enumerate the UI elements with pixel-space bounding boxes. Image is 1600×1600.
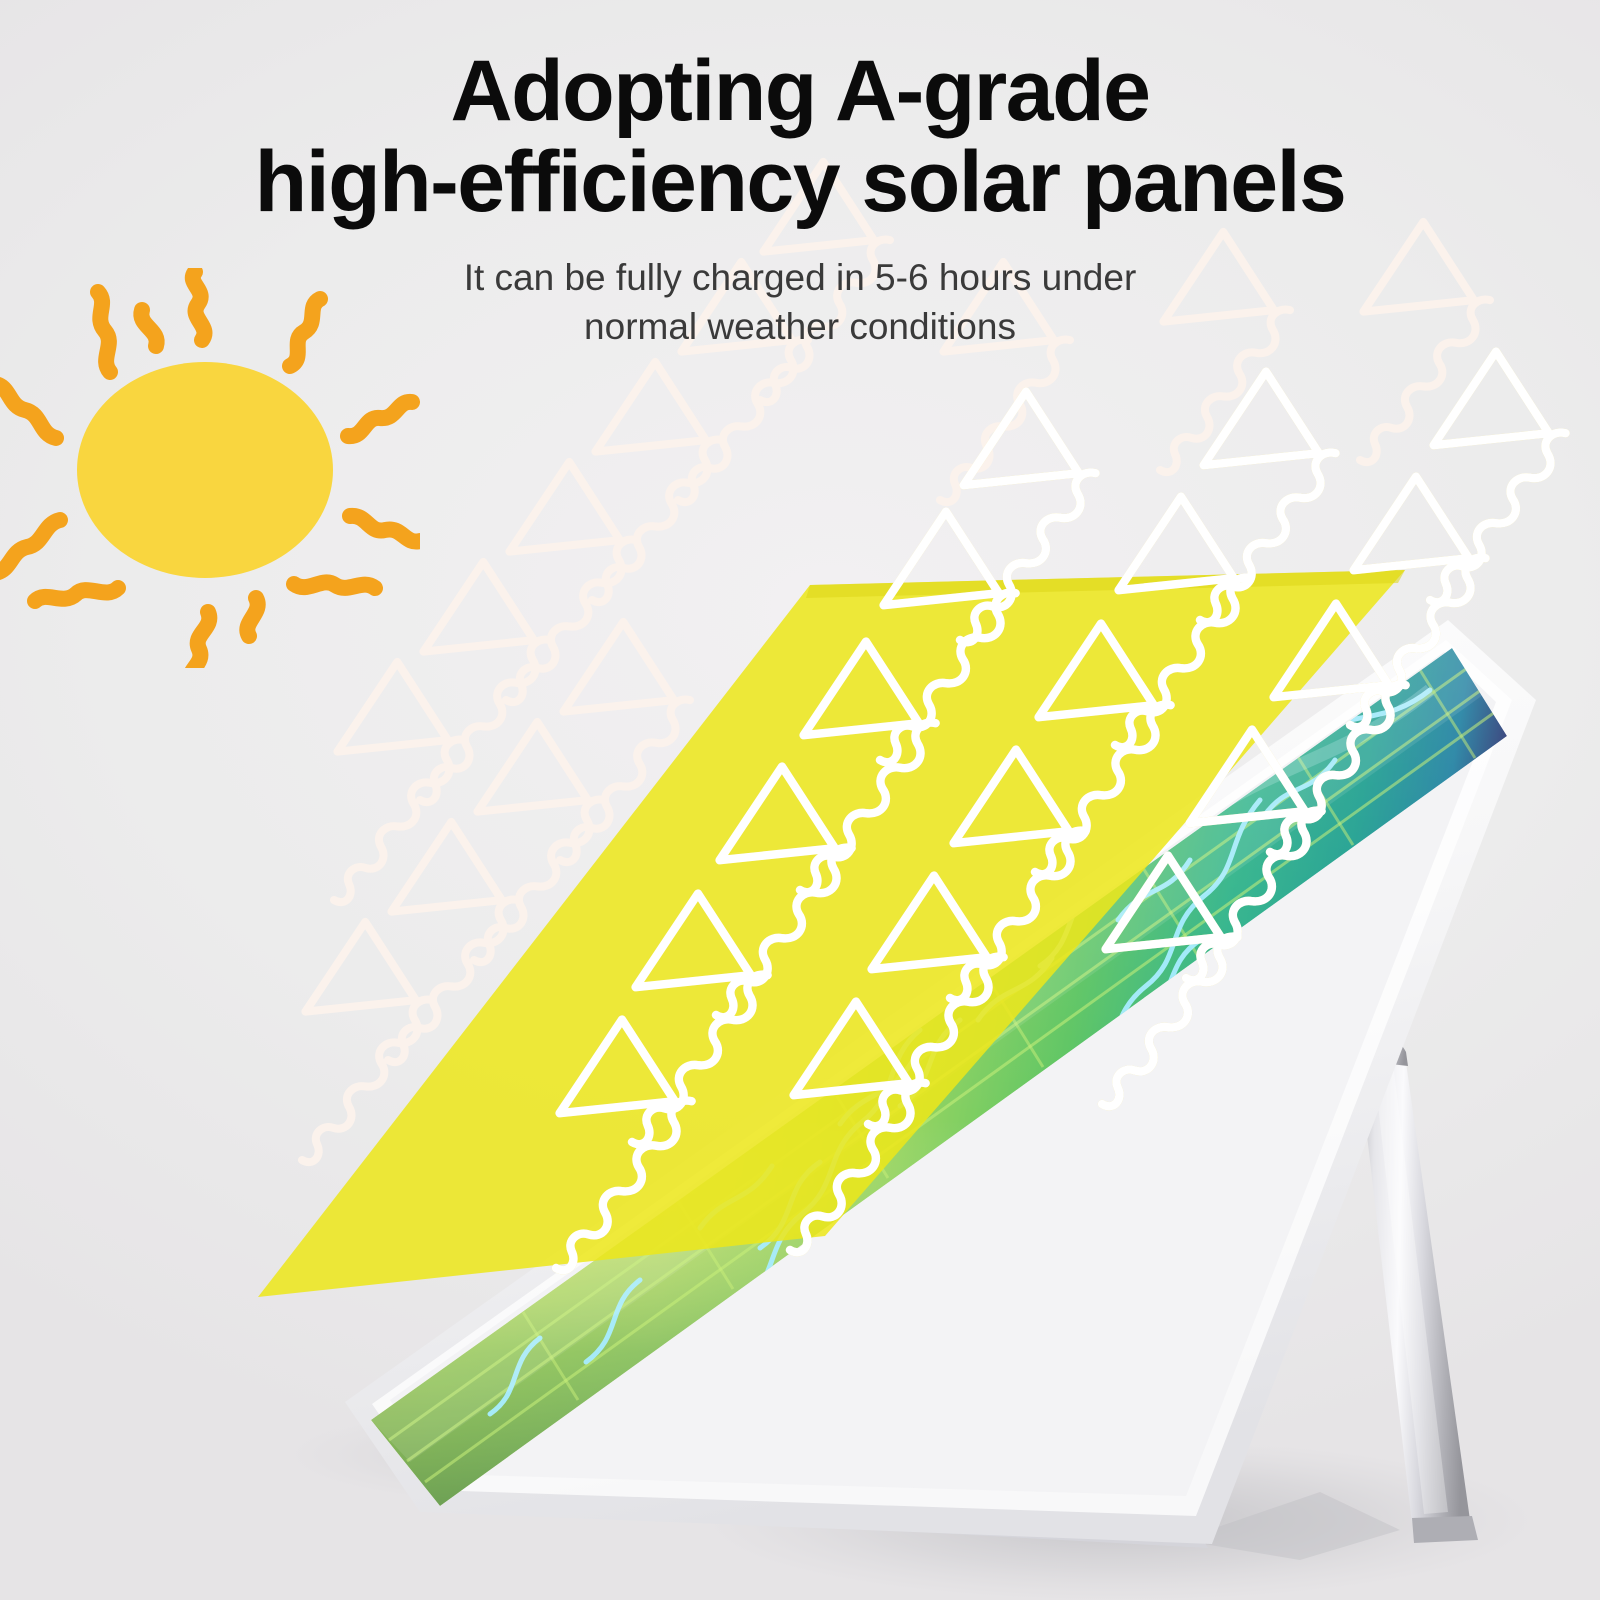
headings-block: Adopting A-grade high-efficiency solar p… — [0, 0, 1600, 352]
page-subtitle: It can be fully charged in 5-6 hours und… — [0, 254, 1600, 352]
page-title: Adopting A-grade high-efficiency solar p… — [0, 0, 1600, 228]
sun-body — [77, 362, 333, 578]
product-promo-image: Adopting A-grade high-efficiency solar p… — [0, 0, 1600, 1600]
